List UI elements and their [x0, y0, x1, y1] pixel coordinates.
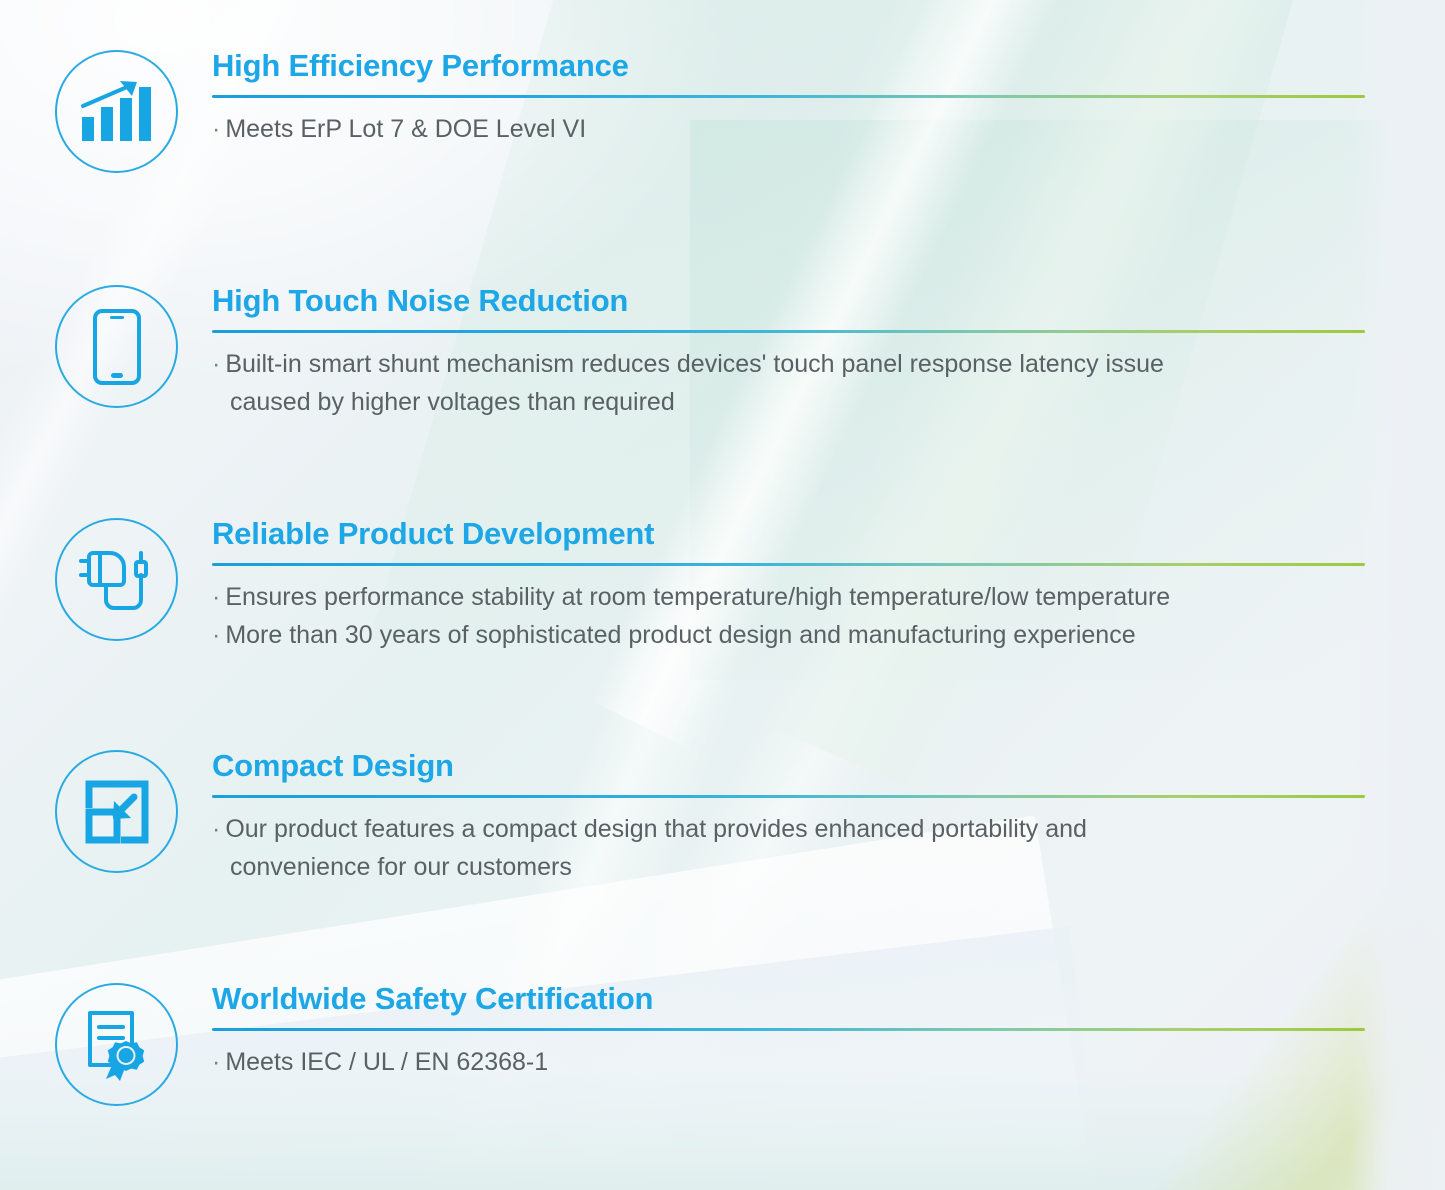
- feature-description: ·Our product features a compact design t…: [212, 810, 1367, 886]
- feature-highlights-page: High Efficiency Performance ·Meets ErP L…: [0, 0, 1445, 1190]
- feature-description: ·Built-in smart shunt mechanism reduces …: [212, 345, 1367, 421]
- bullet-marker: ·: [212, 815, 220, 843]
- feature-line-text: Built-in smart shunt mechanism reduces d…: [225, 350, 1164, 378]
- smartphone-icon: [55, 285, 178, 408]
- feature-description: ·Ensures performance stability at room t…: [212, 578, 1367, 654]
- feature-bullet-line: ·Our product features a compact design t…: [212, 810, 1367, 848]
- feature-line-text: convenience for our customers: [230, 853, 572, 881]
- feature-divider-rule: [212, 330, 1365, 333]
- feature-bullet-line: ·Ensures performance stability at room t…: [212, 578, 1367, 616]
- background-lime-band-halo: [1234, 610, 1445, 1190]
- feature-line-text: Meets ErP Lot 7 & DOE Level VI: [225, 115, 586, 143]
- feature-icon-wrapper: [55, 50, 178, 173]
- bullet-marker: ·: [212, 1048, 220, 1076]
- feature-bullet-line: ·Meets ErP Lot 7 & DOE Level VI: [212, 110, 1367, 148]
- compact-resize-icon: [55, 750, 178, 873]
- feature-title: Reliable Product Development: [212, 518, 1367, 551]
- feature-body: High Efficiency Performance ·Meets ErP L…: [212, 50, 1367, 148]
- feature-line-text: More than 30 years of sophisticated prod…: [225, 621, 1135, 649]
- feature-bullet-line: ·More than 30 years of sophisticated pro…: [212, 616, 1367, 654]
- feature-description: ·Meets IEC / UL / EN 62368-1: [212, 1043, 1367, 1081]
- feature-line-text: Our product features a compact design th…: [225, 815, 1087, 843]
- feature-continuation-line: caused by higher voltages than required: [212, 383, 1367, 421]
- feature-bullet-line: ·Built-in smart shunt mechanism reduces …: [212, 345, 1367, 383]
- feature-divider-rule: [212, 95, 1365, 98]
- power-adapter-icon: [55, 518, 178, 641]
- feature-title: Compact Design: [212, 750, 1367, 783]
- feature-icon-wrapper: [55, 983, 178, 1106]
- feature-divider-rule: [212, 795, 1365, 798]
- feature-divider-rule: [212, 563, 1365, 566]
- feature-icon-wrapper: [55, 285, 178, 408]
- feature-title: High Efficiency Performance: [212, 50, 1367, 83]
- feature-description: ·Meets ErP Lot 7 & DOE Level VI: [212, 110, 1367, 148]
- bullet-marker: ·: [212, 350, 220, 378]
- bullet-marker: ·: [212, 115, 220, 143]
- background-bottom-tint: [0, 1070, 1445, 1190]
- feature-body: Compact Design ·Our product features a c…: [212, 750, 1367, 886]
- feature-line-text: caused by higher voltages than required: [230, 388, 675, 416]
- feature-title: High Touch Noise Reduction: [212, 285, 1367, 318]
- feature-title: Worldwide Safety Certification: [212, 983, 1367, 1016]
- feature-icon-wrapper: [55, 518, 178, 641]
- bar-chart-growth-icon: [55, 50, 178, 173]
- feature-line-text: Ensures performance stability at room te…: [225, 583, 1170, 611]
- bullet-marker: ·: [212, 621, 220, 649]
- feature-bullet-line: ·Meets IEC / UL / EN 62368-1: [212, 1043, 1367, 1081]
- bullet-marker: ·: [212, 583, 220, 611]
- feature-divider-rule: [212, 1028, 1365, 1031]
- feature-line-text: Meets IEC / UL / EN 62368-1: [225, 1048, 548, 1076]
- feature-body: Reliable Product Development ·Ensures pe…: [212, 518, 1367, 654]
- feature-body: Worldwide Safety Certification ·Meets IE…: [212, 983, 1367, 1081]
- feature-continuation-line: convenience for our customers: [212, 848, 1367, 886]
- feature-body: High Touch Noise Reduction ·Built-in sma…: [212, 285, 1367, 421]
- feature-icon-wrapper: [55, 750, 178, 873]
- certificate-award-icon: [55, 983, 178, 1106]
